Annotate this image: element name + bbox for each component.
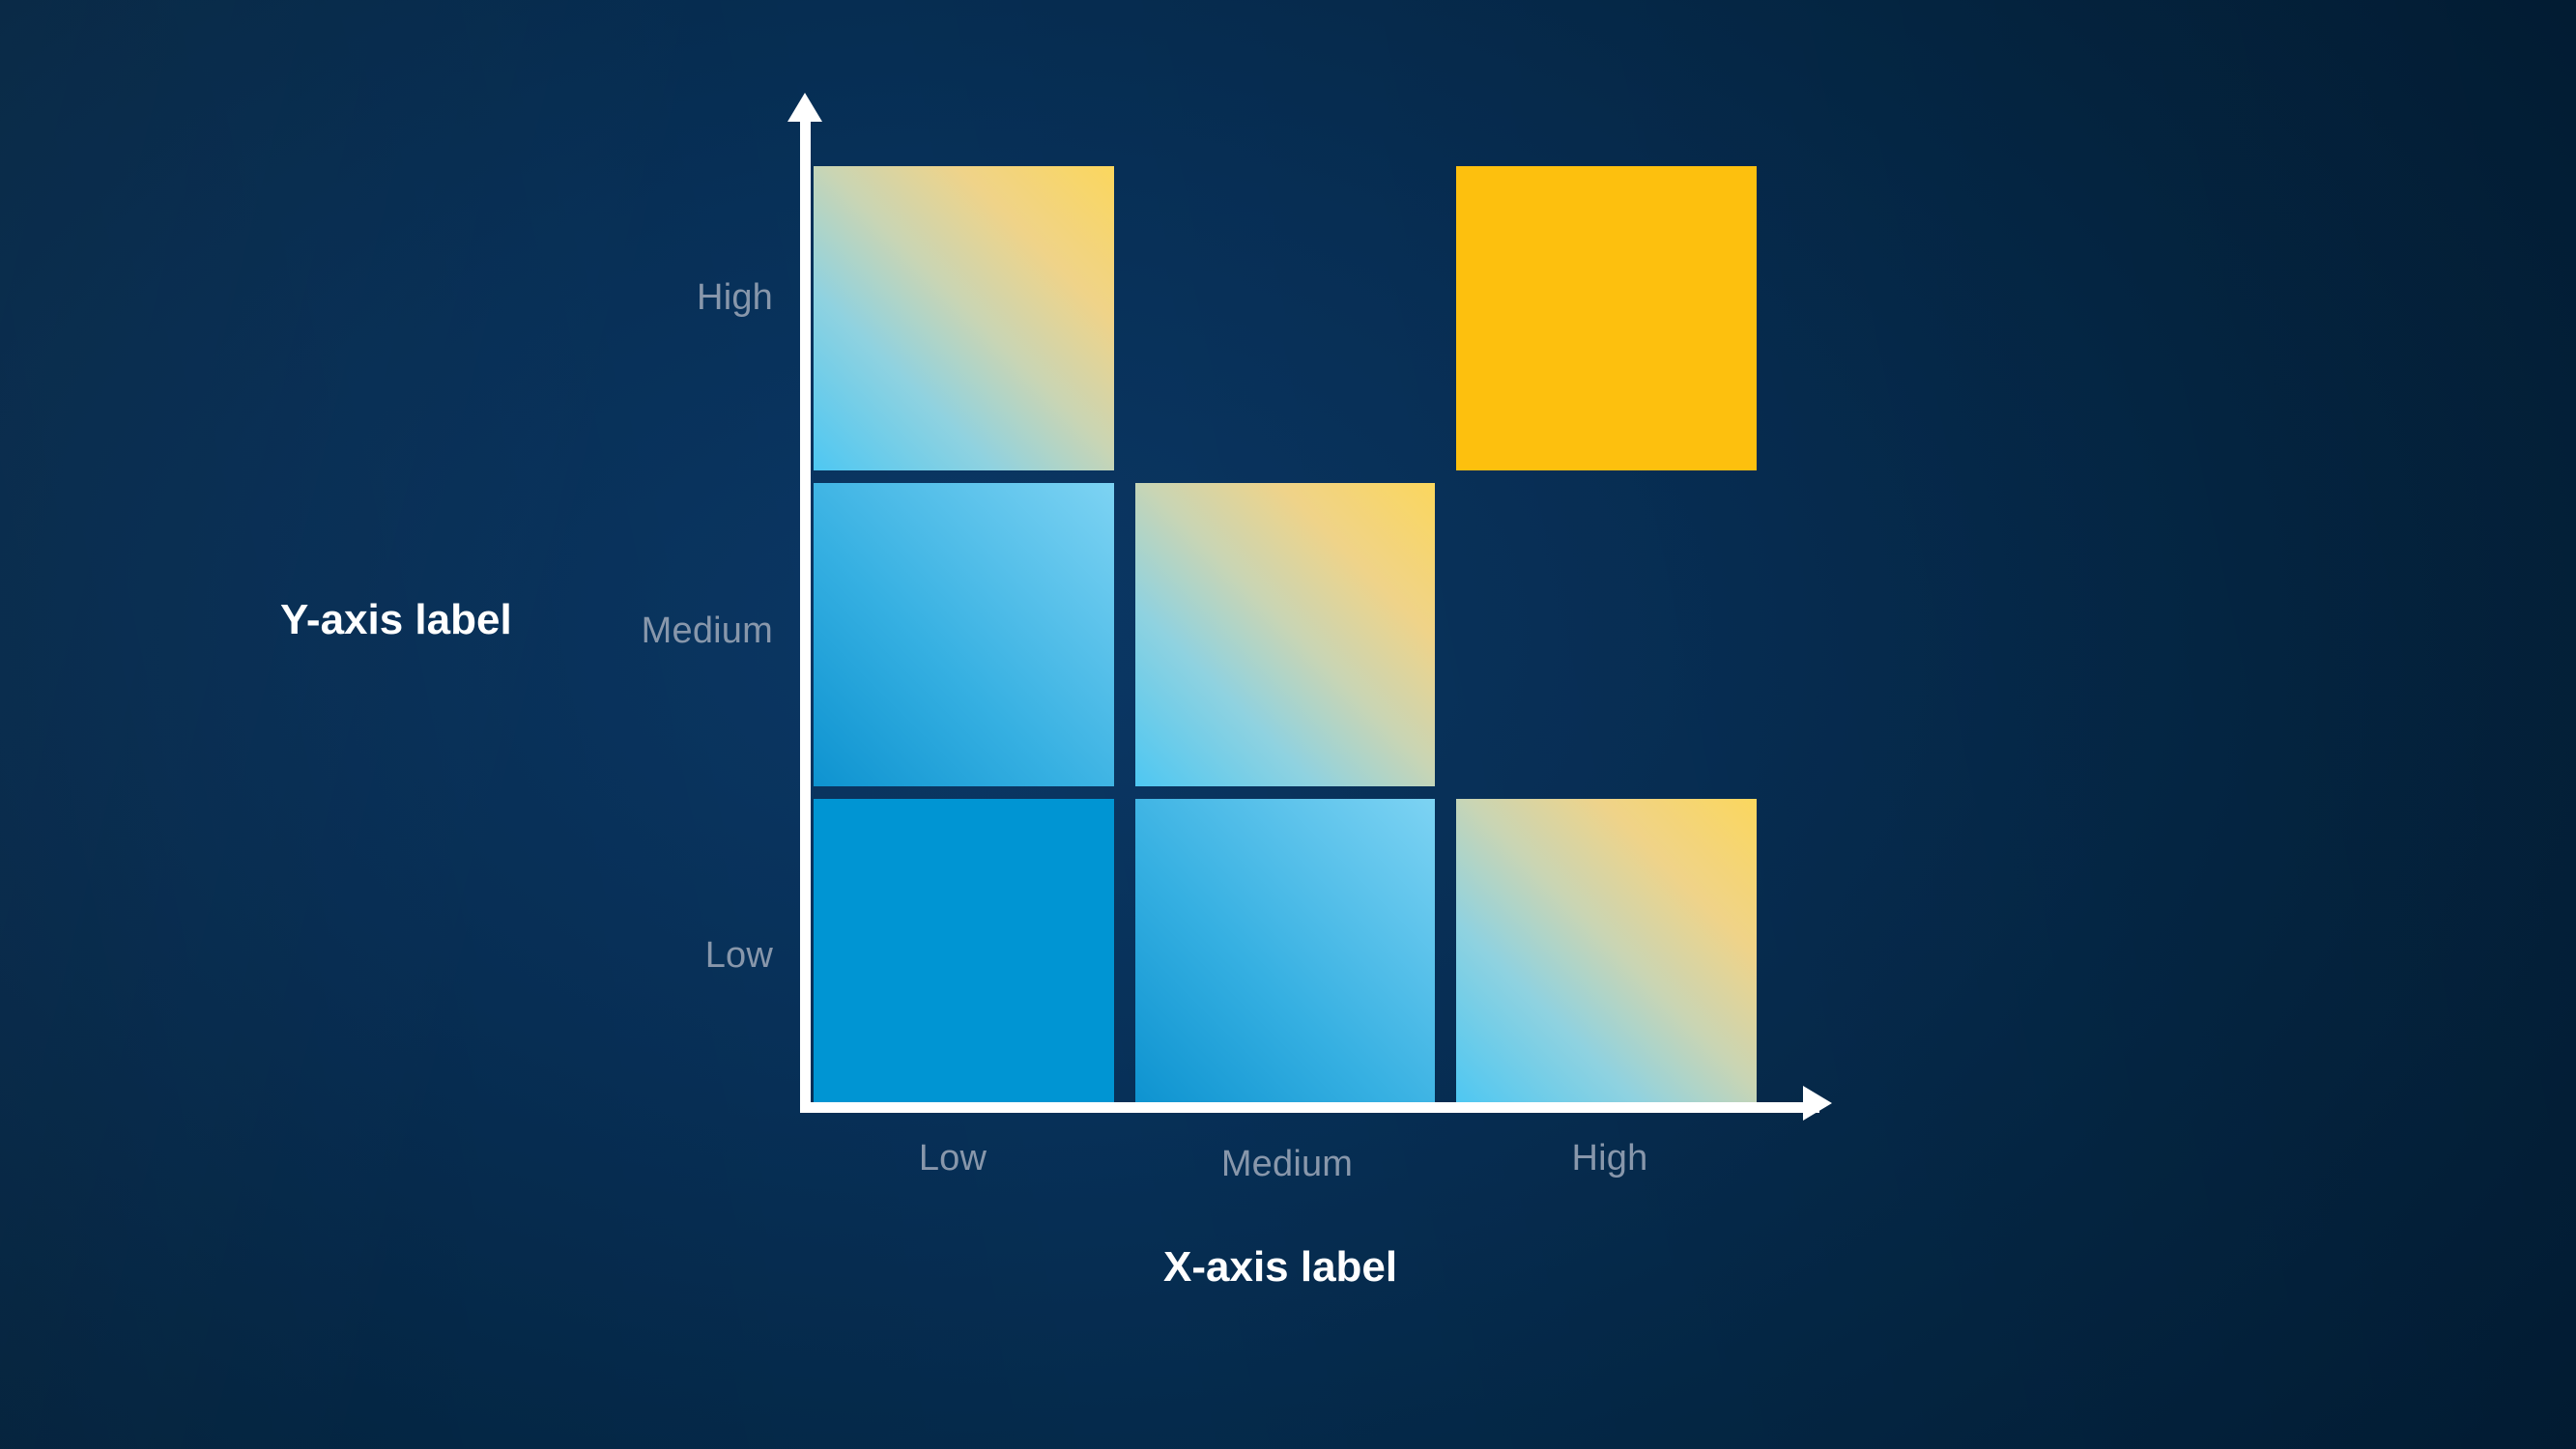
y-axis-tick-medium: Medium <box>541 611 773 652</box>
matrix-cell-low-low[interactable] <box>814 799 1114 1103</box>
y-axis-tick-low: Low <box>541 935 773 977</box>
matrix-cell-high-medium[interactable] <box>1135 166 1436 470</box>
arrow-right-icon <box>1803 1086 1832 1121</box>
y-axis-tick-high: High <box>541 277 773 319</box>
matrix-cell-low-high[interactable] <box>1456 799 1757 1103</box>
matrix-cell-medium-medium[interactable] <box>1135 483 1436 787</box>
y-axis-label: Y-axis label <box>280 596 512 644</box>
matrix-cell-high-low[interactable] <box>814 166 1114 470</box>
x-axis-tick-high: High <box>1494 1138 1726 1179</box>
matrix-grid <box>814 166 1757 1103</box>
y-axis-line <box>800 116 811 1113</box>
matrix-cell-medium-low[interactable] <box>814 483 1114 787</box>
x-axis-label: X-axis label <box>1163 1243 1397 1292</box>
matrix-cell-high-high[interactable] <box>1456 166 1757 470</box>
x-axis-line <box>800 1102 1819 1113</box>
matrix-cell-low-medium[interactable] <box>1135 799 1436 1103</box>
x-axis-tick-low: Low <box>837 1138 1069 1179</box>
arrow-up-icon <box>787 93 822 122</box>
matrix-chart-canvas: High Medium Low Low Medium High Y-axis l… <box>0 0 2576 1449</box>
matrix-cell-medium-high[interactable] <box>1456 483 1757 787</box>
x-axis-tick-medium: Medium <box>1171 1144 1403 1185</box>
